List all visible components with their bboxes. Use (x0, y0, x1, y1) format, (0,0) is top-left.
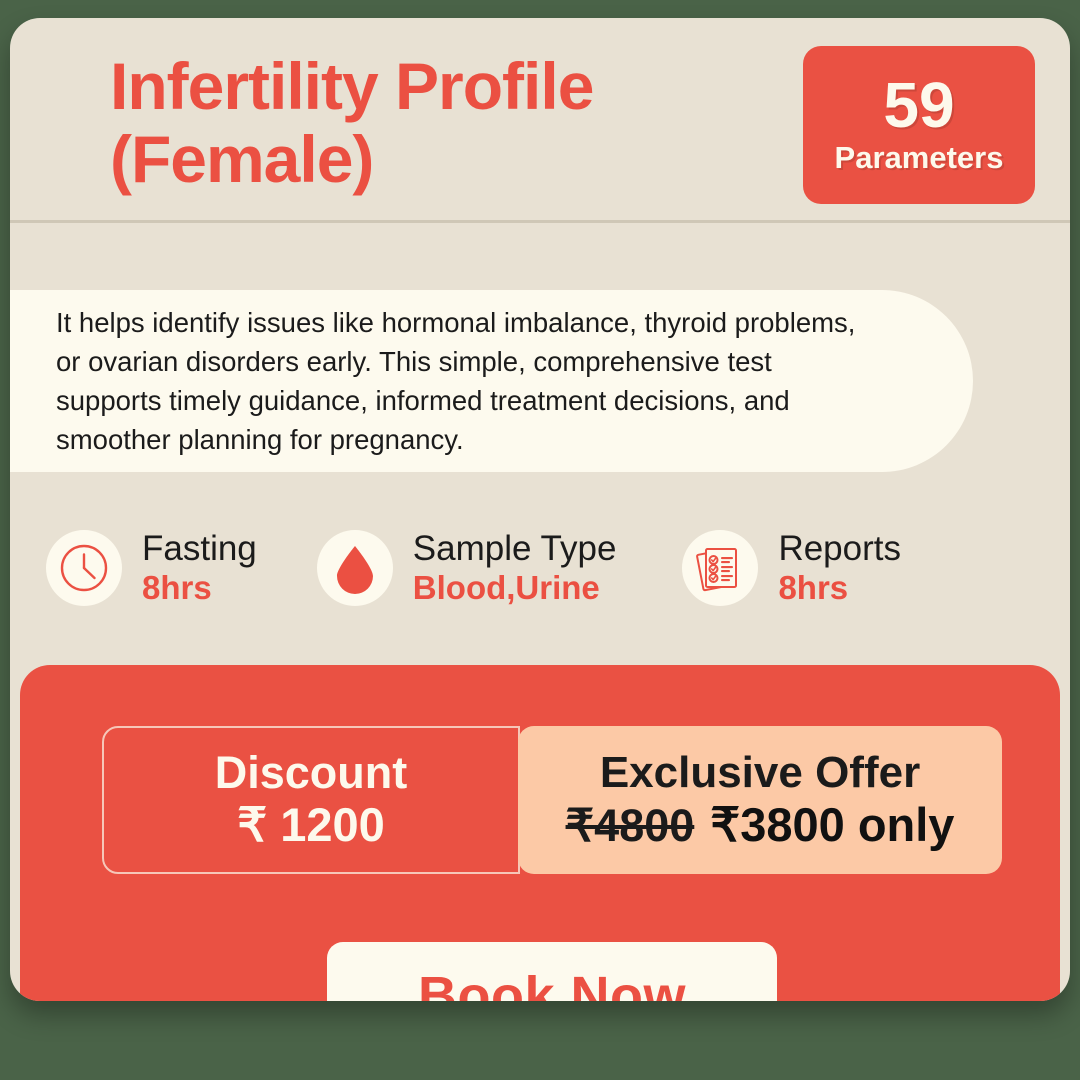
reports-icon (682, 530, 758, 606)
discounted-price: ₹3800 only (710, 798, 954, 852)
discount-value: ₹ 1200 (237, 799, 385, 852)
book-now-label: Book Now (418, 965, 686, 1001)
description-pill: It helps identify issues like hormonal i… (10, 290, 973, 472)
parameters-count: 59 (883, 73, 954, 137)
test-package-card: Infertility Profile (Female) 59 Paramete… (10, 18, 1070, 1001)
book-now-button[interactable]: Book Now (327, 942, 777, 1001)
offer-prices: ₹4800 ₹3800 only (566, 798, 955, 852)
info-text-fasting: Fasting 8hrs (142, 528, 257, 608)
original-price: ₹4800 (566, 800, 695, 851)
info-item-sample-type: Sample Type Blood,Urine (317, 528, 617, 608)
info-value: 8hrs (778, 569, 901, 608)
info-label: Fasting (142, 528, 257, 569)
info-text-reports: Reports 8hrs (778, 528, 901, 608)
card-header: Infertility Profile (Female) 59 Paramete… (10, 18, 1070, 223)
info-text-sample-type: Sample Type Blood,Urine (413, 528, 617, 608)
info-label: Reports (778, 528, 901, 569)
price-row: Discount ₹ 1200 Exclusive Offer ₹4800 ₹3… (102, 726, 1002, 874)
blood-drop-icon (317, 530, 393, 606)
parameters-badge: 59 Parameters (803, 46, 1035, 204)
info-row: Fasting 8hrs Sample Type Blood,Urine (10, 498, 1070, 638)
description-text: It helps identify issues like hormonal i… (10, 303, 973, 459)
page-title: Infertility Profile (Female) (110, 50, 810, 195)
info-item-fasting: Fasting 8hrs (46, 528, 257, 608)
info-label: Sample Type (413, 528, 617, 569)
clock-icon (46, 530, 122, 606)
discount-label: Discount (215, 748, 408, 798)
info-value: 8hrs (142, 569, 257, 608)
offer-label: Exclusive Offer (600, 748, 920, 798)
parameters-label: Parameters (835, 139, 1004, 176)
pricing-footer: Discount ₹ 1200 Exclusive Offer ₹4800 ₹3… (20, 665, 1060, 1001)
exclusive-offer-panel: Exclusive Offer ₹4800 ₹3800 only (518, 726, 1002, 874)
discount-panel: Discount ₹ 1200 (102, 726, 520, 874)
info-item-reports: Reports 8hrs (682, 528, 901, 608)
info-value: Blood,Urine (413, 569, 617, 608)
